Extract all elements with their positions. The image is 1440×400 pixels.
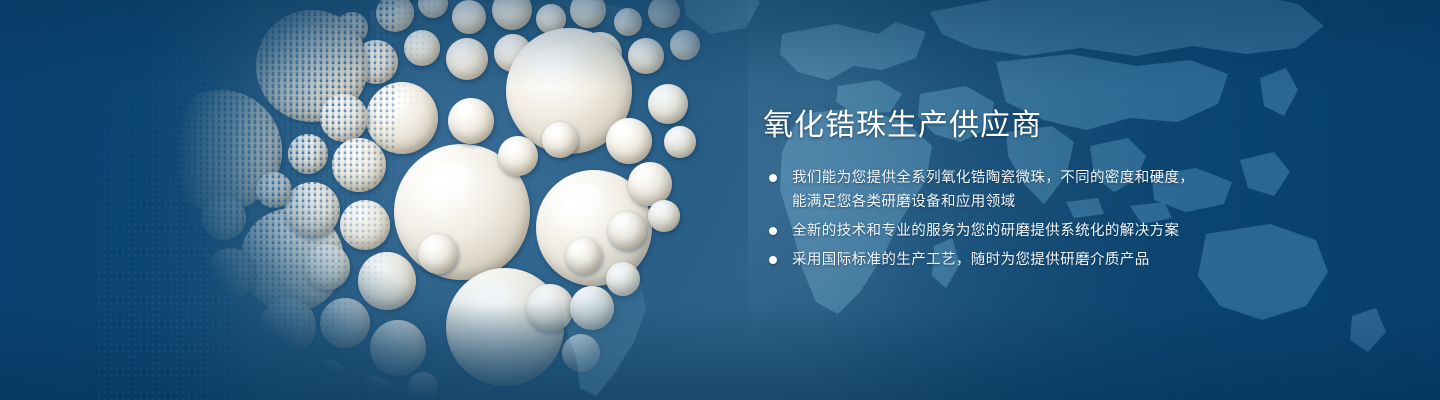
list-item: 我们能为您提供全系列氧化锆陶瓷微珠，不同的密度和硬度， 能满足您各类研磨设备和应… [763,166,1323,214]
bullet-dot-icon [769,256,777,264]
list-item-line: 我们能为您提供全系列氧化锆陶瓷微珠，不同的密度和硬度， [792,166,1323,190]
list-item-line: 采用国际标准的生产工艺，随时为您提供研磨介质产品 [792,248,1323,272]
list-item: 全新的技术和专业的服务为您的研磨提供系统化的解决方案 [763,219,1323,243]
list-item: 采用国际标准的生产工艺，随时为您提供研磨介质产品 [763,248,1323,272]
hero-banner: 氧化锆珠生产供应商 我们能为您提供全系列氧化锆陶瓷微珠，不同的密度和硬度， 能满… [0,0,1440,400]
page-title: 氧化锆珠生产供应商 [763,106,1323,146]
banner-copy: 氧化锆珠生产供应商 我们能为您提供全系列氧化锆陶瓷微珠，不同的密度和硬度， 能满… [763,106,1323,272]
bullet-dot-icon [769,227,777,235]
list-item-line: 能满足您各类研磨设备和应用领域 [792,190,1323,214]
list-item-line: 全新的技术和专业的服务为您的研磨提供系统化的解决方案 [792,219,1323,243]
bullet-dot-icon [769,174,777,182]
feature-list: 我们能为您提供全系列氧化锆陶瓷微珠，不同的密度和硬度， 能满足您各类研磨设备和应… [763,166,1323,272]
